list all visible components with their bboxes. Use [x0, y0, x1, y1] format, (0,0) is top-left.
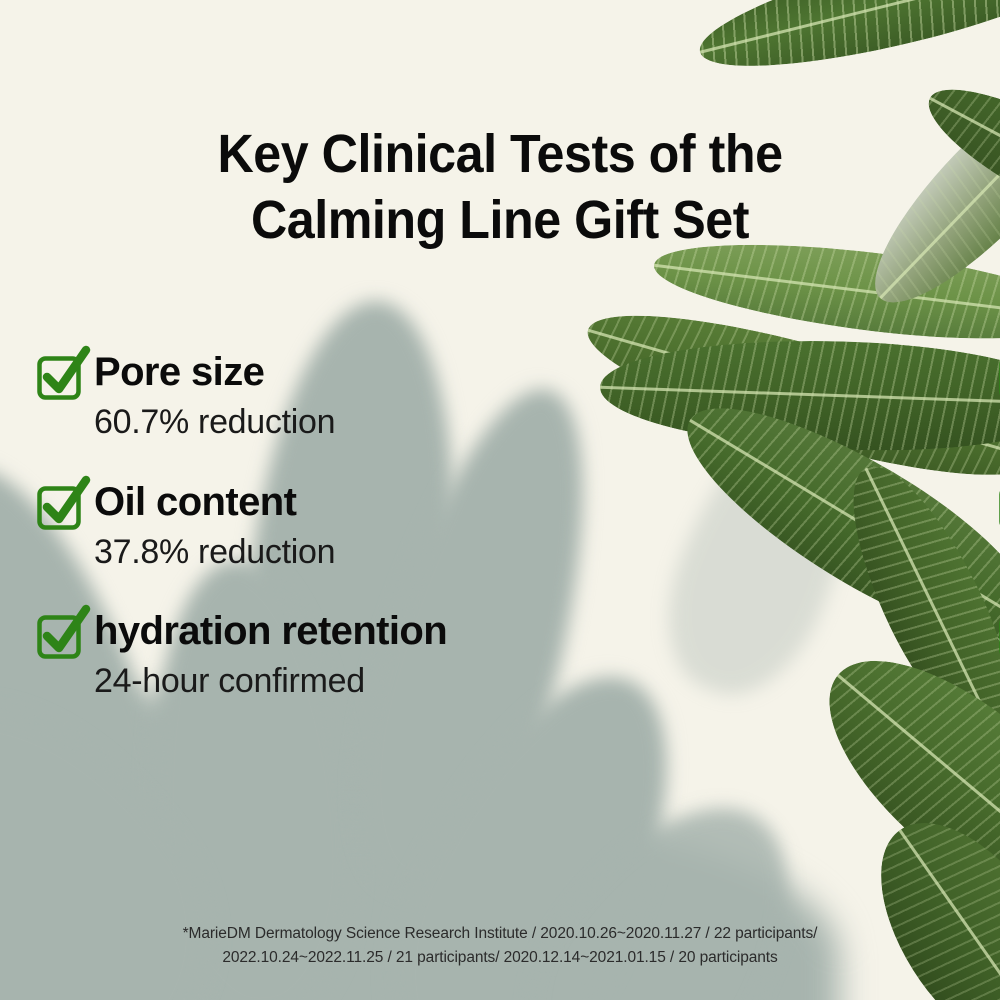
result-item-dead-skin-cells: Dead skin cells 44.3% reduction [467, 352, 1000, 441]
result-item-pore-size: Pore size 60.7% reduction [0, 352, 467, 441]
checkbox-checked-icon [38, 355, 82, 399]
result-value: 37.8% reduction [94, 535, 467, 571]
result-label: hydration retention [94, 611, 447, 653]
promo-canvas: Key Clinical Tests of the Calming Line G… [0, 0, 1000, 1000]
page-title: Key Clinical Tests of the Calming Line G… [35, 122, 965, 254]
checkbox-checked-icon [38, 485, 82, 529]
results-grid: Pore size 60.7% reduction Dead skin cell… [0, 352, 1000, 741]
result-value: 24-hour confirmed [94, 664, 467, 700]
result-heading: Oil content [38, 482, 467, 529]
results-row: Pore size 60.7% reduction Dead skin cell… [0, 352, 1000, 441]
result-heading: hydration retention [38, 611, 467, 658]
result-item-sebum-production: Sebum production 32.7% reduction [467, 482, 1000, 571]
result-label: Oil content [94, 482, 296, 524]
checkbox-checked-icon [38, 614, 82, 658]
result-item-skin-barrier: Skin barrier improvement confirmed [467, 611, 1000, 700]
result-item-oil-content: Oil content 37.8% reduction [0, 482, 467, 571]
results-row: hydration retention 24-hour confirmed Sk… [0, 611, 1000, 700]
result-item-hydration-retention: hydration retention 24-hour confirmed [0, 611, 467, 700]
result-value: 60.7% reduction [94, 405, 467, 441]
results-row: Oil content 37.8% reduction Sebum produc… [0, 482, 1000, 571]
content-layer: Key Clinical Tests of the Calming Line G… [0, 0, 1000, 1000]
footnote-disclaimer: *MarieDM Dermatology Science Research In… [0, 922, 1000, 970]
result-heading: Pore size [38, 352, 467, 399]
result-label: Pore size [94, 352, 264, 394]
